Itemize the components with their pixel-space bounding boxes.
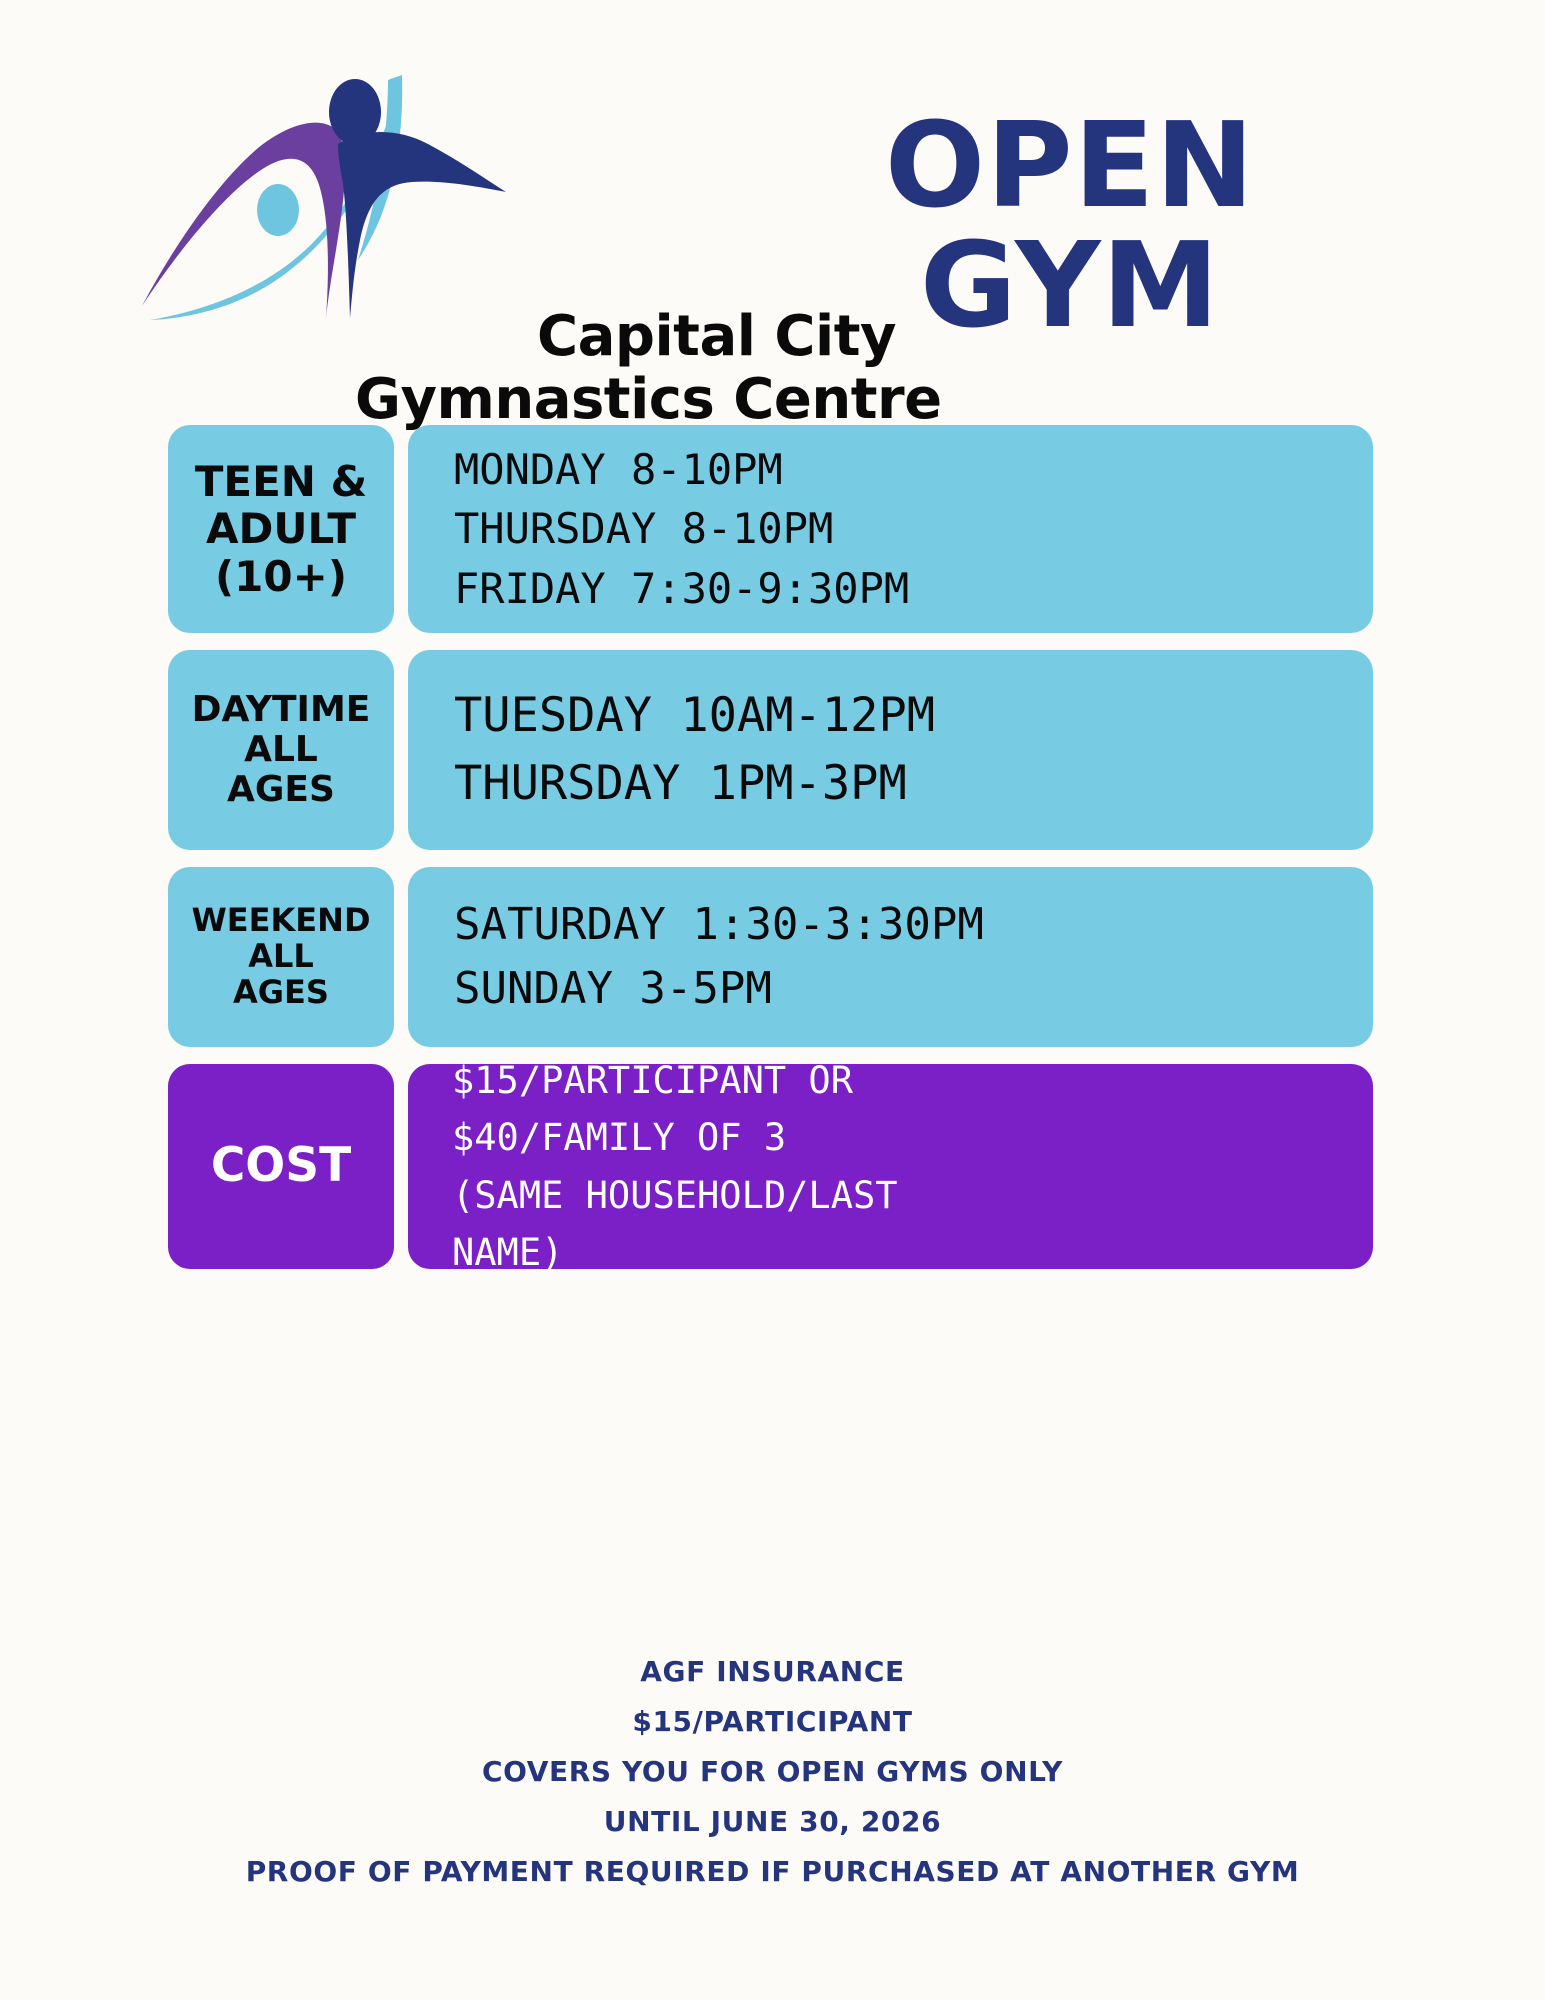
- cost-line: $15/PARTICIPANT OR: [452, 1052, 1373, 1109]
- schedule-label-weekend: WEEKEND ALL AGES: [168, 867, 394, 1047]
- poster-header: Capital City Gymnastics Centre OPEN GYM: [0, 0, 1545, 400]
- label-line: WEEKEND: [191, 903, 370, 939]
- open-gym-poster: Capital City Gymnastics Centre OPEN GYM …: [0, 0, 1545, 2000]
- schedule-table: TEEN & ADULT (10+) MONDAY 8-10PM THURSDA…: [168, 425, 1373, 1286]
- table-row: TEEN & ADULT (10+) MONDAY 8-10PM THURSDA…: [168, 425, 1373, 633]
- label-line: AGES: [192, 770, 371, 810]
- footer-line-price: $15/PARTICIPANT: [0, 1705, 1545, 1738]
- time-line: SATURDAY 1:30-3:30PM: [454, 893, 1373, 957]
- label-line: TEEN &: [195, 458, 367, 505]
- schedule-times-teen-adult: MONDAY 8-10PM THURSDAY 8-10PM FRIDAY 7:3…: [408, 425, 1373, 633]
- footer-line-expiry: UNTIL JUNE 30, 2026: [0, 1805, 1545, 1838]
- label-line: ALL: [191, 939, 370, 975]
- cost-line: NAME): [452, 1224, 1373, 1281]
- cost-line: $40/FAMILY OF 3: [452, 1109, 1373, 1166]
- schedule-times-weekend: SATURDAY 1:30-3:30PM SUNDAY 3-5PM: [408, 867, 1373, 1047]
- time-line: THURSDAY 8-10PM: [454, 499, 1373, 559]
- label-line: COST: [211, 1140, 351, 1193]
- time-line: THURSDAY 1PM-3PM: [454, 750, 1373, 818]
- schedule-times-cost: $15/PARTICIPANT OR $40/FAMILY OF 3 (SAME…: [408, 1064, 1373, 1269]
- time-line: MONDAY 8-10PM: [454, 440, 1373, 500]
- brand-line-2: Gymnastics Centre: [355, 371, 915, 428]
- label-line: (10+): [195, 553, 367, 600]
- label-line: DAYTIME: [192, 690, 371, 730]
- cost-line: (SAME HOUSEHOLD/LAST: [452, 1167, 1373, 1224]
- time-line: SUNDAY 3-5PM: [454, 957, 1373, 1021]
- footer-line-insurance: AGF INSURANCE: [0, 1655, 1545, 1688]
- title-line-open: OPEN: [760, 105, 1380, 225]
- schedule-label-cost: COST: [168, 1064, 394, 1269]
- poster-footer: AGF INSURANCE $15/PARTICIPANT COVERS YOU…: [0, 1655, 1545, 1905]
- gymnast-swoosh-logo-icon: [140, 70, 600, 320]
- label-line: AGES: [191, 975, 370, 1011]
- label-line: ALL: [192, 730, 371, 770]
- footer-line-coverage: COVERS YOU FOR OPEN GYMS ONLY: [0, 1755, 1545, 1788]
- label-line: ADULT: [195, 505, 367, 552]
- time-line: FRIDAY 7:30-9:30PM: [454, 559, 1373, 619]
- table-row: COST $15/PARTICIPANT OR $40/FAMILY OF 3 …: [168, 1064, 1373, 1269]
- table-row: DAYTIME ALL AGES TUESDAY 10AM-12PM THURS…: [168, 650, 1373, 850]
- time-line: TUESDAY 10AM-12PM: [454, 682, 1373, 750]
- table-row: WEEKEND ALL AGES SATURDAY 1:30-3:30PM SU…: [168, 867, 1373, 1047]
- title-line-gym: GYM: [760, 225, 1380, 345]
- schedule-label-daytime: DAYTIME ALL AGES: [168, 650, 394, 850]
- schedule-label-teen-adult: TEEN & ADULT (10+): [168, 425, 394, 633]
- footer-line-proof: PROOF OF PAYMENT REQUIRED IF PURCHASED A…: [0, 1855, 1545, 1888]
- schedule-times-daytime: TUESDAY 10AM-12PM THURSDAY 1PM-3PM: [408, 650, 1373, 850]
- page-title: OPEN GYM: [760, 105, 1380, 346]
- brand-logo: Capital City Gymnastics Centre: [140, 70, 760, 370]
